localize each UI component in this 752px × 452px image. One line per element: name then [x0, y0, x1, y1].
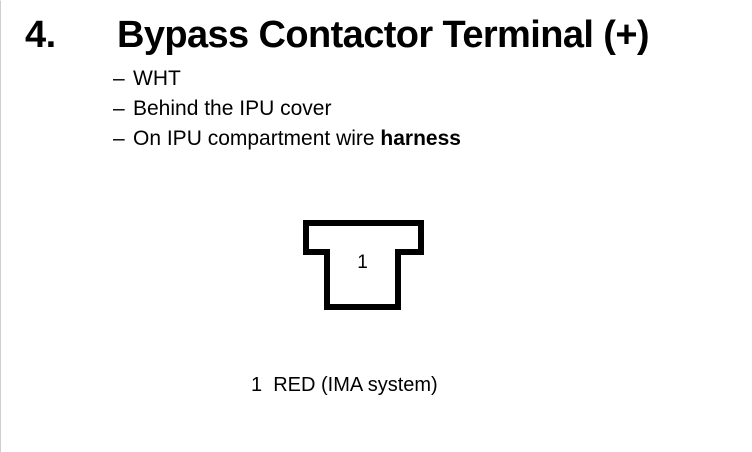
page-title: 4. Bypass Contactor Terminal (+): [25, 13, 729, 59]
heading-title: Bypass Contactor Terminal (+): [117, 13, 649, 57]
list-item-text: WHT: [133, 67, 181, 90]
list-item-text: Behind the IPU cover: [133, 97, 331, 120]
dash-icon: –: [113, 94, 133, 124]
connector-path: [306, 223, 421, 307]
list-item: – Behind the IPU cover: [113, 94, 713, 124]
dash-icon: –: [113, 64, 133, 94]
connector-outline-icon: [291, 211, 437, 321]
list-item-text: On IPU compartment wire: [133, 127, 380, 150]
connector-diagram: 1: [291, 211, 437, 321]
bullet-list: – WHT – Behind the IPU cover – On IPU co…: [113, 64, 713, 154]
slide-canvas: 4. Bypass Contactor Terminal (+) – WHT –…: [0, 0, 752, 452]
list-item: – WHT: [113, 64, 713, 94]
heading-number: 4.: [25, 13, 117, 57]
list-item-emphasis: harness: [380, 127, 461, 150]
diagram-caption: 1 RED (IMA system): [251, 372, 438, 398]
dash-icon: –: [113, 124, 133, 154]
list-item: – On IPU compartment wire harness: [113, 124, 713, 154]
list-item-label: Behind the IPU cover: [133, 94, 331, 124]
list-item-label: On IPU compartment wire harness: [133, 124, 461, 154]
list-item-label: WHT: [133, 64, 181, 94]
